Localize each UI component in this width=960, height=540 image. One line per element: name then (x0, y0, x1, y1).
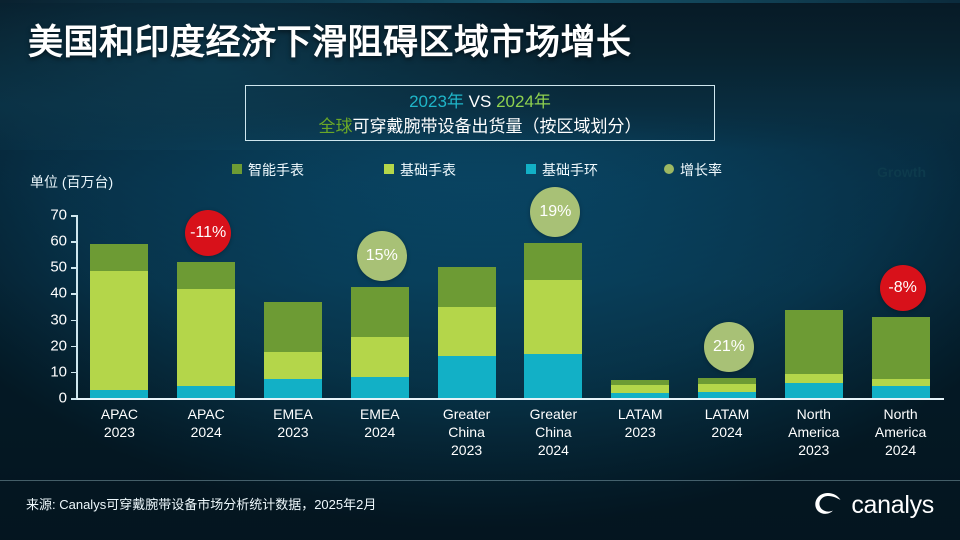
x-axis-tick-label: EMEA2023 (250, 405, 337, 441)
subtitle-line-years: 2023年 VS 2024年 (246, 90, 714, 114)
x-axis-tick-label: APAC2023 (76, 405, 163, 441)
x-axis-label-line: 2024 (336, 423, 423, 441)
growth-bubble[interactable]: -11% (185, 210, 231, 256)
canalys-wordmark: canalys (851, 491, 934, 520)
legend-item-2[interactable]: 基础手表 (384, 160, 456, 180)
chart-plot-area: 706050403020100APAC2023APAC2024-11%EMEA2… (76, 215, 944, 398)
bar-segment-2 (524, 280, 582, 354)
y-axis-tick (71, 372, 77, 374)
x-axis-label-line: China (423, 423, 510, 441)
y-axis-tick-label: 0 (59, 390, 67, 407)
x-axis-label-line: 2023 (770, 441, 857, 459)
legend-swatch-icon (664, 164, 674, 174)
x-axis-tick-label: EMEA2024 (336, 405, 423, 441)
x-axis-tick-label: GreaterChina2024 (510, 405, 597, 459)
y-axis-tick (71, 241, 77, 243)
legend-label: 基础手表 (400, 162, 456, 178)
y-axis-tick-label: 60 (50, 233, 67, 250)
legend-swatch-icon (384, 164, 394, 174)
x-axis-label-line: Greater (510, 405, 597, 423)
bar-segment-3 (524, 243, 582, 280)
legend-swatch-icon (232, 164, 242, 174)
y-axis-tick (71, 293, 77, 295)
x-axis-tick-label: NorthAmerica2024 (857, 405, 944, 459)
subtitle-scope: 全球 (319, 117, 353, 136)
bar-segment-1 (264, 379, 322, 398)
subtitle-year-b: 2024年 (496, 92, 551, 111)
bar-segment-3 (611, 380, 669, 385)
bar-segment-1 (177, 386, 235, 398)
bar-segment-2 (698, 384, 756, 392)
x-axis-label-line: 2024 (857, 441, 944, 459)
chart-bar[interactable] (524, 243, 582, 398)
subtitle-vs: VS (469, 92, 492, 111)
page-title: 美国和印度经济下滑阻碍区域市场增长 (28, 14, 632, 65)
bar-segment-1 (90, 390, 148, 398)
growth-bubble[interactable]: 15% (357, 231, 407, 281)
subtitle-box: 2023年 VS 2024年 全球可穿戴腕带设备出货量（按区域划分） (245, 85, 715, 141)
subtitle-year-a: 2023年 (409, 92, 464, 111)
chart-bar[interactable] (611, 380, 669, 398)
x-axis-label-line: 2023 (76, 423, 163, 441)
bar-segment-1 (698, 392, 756, 398)
bar-segment-1 (872, 386, 930, 398)
y-axis-tick-label: 70 (50, 207, 67, 224)
y-axis-tick (71, 267, 77, 269)
x-axis-label-line: America (857, 423, 944, 441)
x-axis-tick-label: GreaterChina2023 (423, 405, 510, 459)
x-axis-label-line: 2024 (510, 441, 597, 459)
bar-segment-3 (90, 244, 148, 271)
chart-legend: 智能手表基础手表基础手环增长率 (232, 160, 732, 180)
x-axis-label-line: China (510, 423, 597, 441)
legend-swatch-icon (526, 164, 536, 174)
slide-canvas: 美国和印度经济下滑阻碍区域市场增长 2023年 VS 2024年 全球可穿戴腕带… (0, 0, 960, 540)
bar-segment-3 (698, 378, 756, 385)
bar-segment-2 (264, 352, 322, 379)
bar-segment-2 (785, 374, 843, 383)
x-axis-tick-label: APAC2024 (163, 405, 250, 441)
bar-segment-2 (438, 307, 496, 356)
x-axis-label-line: 2023 (423, 441, 510, 459)
bar-segment-1 (785, 383, 843, 398)
y-axis-tick-label: 40 (50, 285, 67, 302)
bar-segment-2 (872, 379, 930, 386)
x-axis-label-line: LATAM (597, 405, 684, 423)
y-axis-tick (71, 320, 77, 322)
x-axis-label-line: EMEA (336, 405, 423, 423)
y-axis-tick (71, 215, 77, 217)
bar-segment-3 (785, 310, 843, 374)
canalys-logo: canalys (813, 489, 934, 522)
x-axis-label-line: APAC (76, 405, 163, 423)
x-axis-label-line: APAC (163, 405, 250, 423)
legend-item-1[interactable]: 智能手表 (232, 160, 304, 180)
legend-label: 基础手环 (542, 162, 598, 178)
chart-bar[interactable] (90, 244, 148, 398)
x-axis-tick-label: LATAM2023 (597, 405, 684, 441)
chart-bar[interactable] (351, 287, 409, 398)
chart-bar[interactable] (872, 317, 930, 398)
chart-bar[interactable] (264, 302, 322, 398)
bar-segment-1 (438, 356, 496, 398)
x-axis-label-line: EMEA (250, 405, 337, 423)
y-axis-tick-label: 10 (50, 363, 67, 380)
growth-bubble[interactable]: 21% (704, 322, 754, 372)
x-axis-label-line: Greater (423, 405, 510, 423)
x-axis-label-line: LATAM (684, 405, 771, 423)
legend-label: 智能手表 (248, 162, 304, 178)
canalys-swirl-icon (813, 489, 843, 522)
growth-bubble[interactable]: 19% (530, 187, 580, 237)
bar-segment-2 (351, 337, 409, 377)
y-axis-tick-label: 30 (50, 311, 67, 328)
x-axis-label-line: 2024 (684, 423, 771, 441)
bar-segment-1 (524, 354, 582, 398)
y-axis-tick-label: 20 (50, 337, 67, 354)
bar-segment-3 (351, 287, 409, 337)
chart-bar[interactable] (698, 378, 756, 398)
x-axis-label-line: North (770, 405, 857, 423)
chart-bar[interactable] (785, 310, 843, 398)
bar-segment-3 (264, 302, 322, 352)
x-axis-tick-label: NorthAmerica2023 (770, 405, 857, 459)
bar-segment-1 (351, 377, 409, 398)
bar-segment-2 (611, 385, 669, 393)
growth-watermark-label: Growth (877, 164, 926, 180)
x-axis-label-line: 2023 (250, 423, 337, 441)
bar-segment-3 (872, 317, 930, 379)
x-axis-label-line: America (770, 423, 857, 441)
y-axis-tick-label: 50 (50, 259, 67, 276)
bar-segment-1 (611, 393, 669, 398)
x-axis-label-line: North (857, 405, 944, 423)
bar-segment-3 (438, 267, 496, 307)
footer-divider (0, 480, 960, 481)
legend-item-4[interactable]: 增长率 (664, 160, 722, 180)
subtitle-topic: 可穿戴腕带设备出货量（按区域划分） (353, 117, 642, 136)
bar-segment-2 (90, 271, 148, 390)
bar-segment-2 (177, 289, 235, 385)
x-axis-label-line: 2024 (163, 423, 250, 441)
y-axis-unit-label: 单位 (百万台) (30, 172, 113, 192)
source-note: 来源: Canalys可穿戴腕带设备市场分析统计数据，2025年2月 (26, 494, 376, 513)
bar-segment-3 (177, 262, 235, 289)
legend-label: 增长率 (680, 162, 722, 178)
x-axis-label-line: 2023 (597, 423, 684, 441)
x-axis-tick-label: LATAM2024 (684, 405, 771, 441)
growth-bubble[interactable]: -8% (880, 265, 926, 311)
x-axis-line (76, 398, 944, 400)
chart-bar[interactable] (177, 262, 235, 398)
subtitle-line-topic: 全球可穿戴腕带设备出货量（按区域划分） (246, 114, 714, 139)
y-axis-tick (71, 346, 77, 348)
y-axis-tick (71, 398, 77, 400)
chart-bar[interactable] (438, 267, 496, 398)
legend-item-3[interactable]: 基础手环 (526, 160, 598, 180)
